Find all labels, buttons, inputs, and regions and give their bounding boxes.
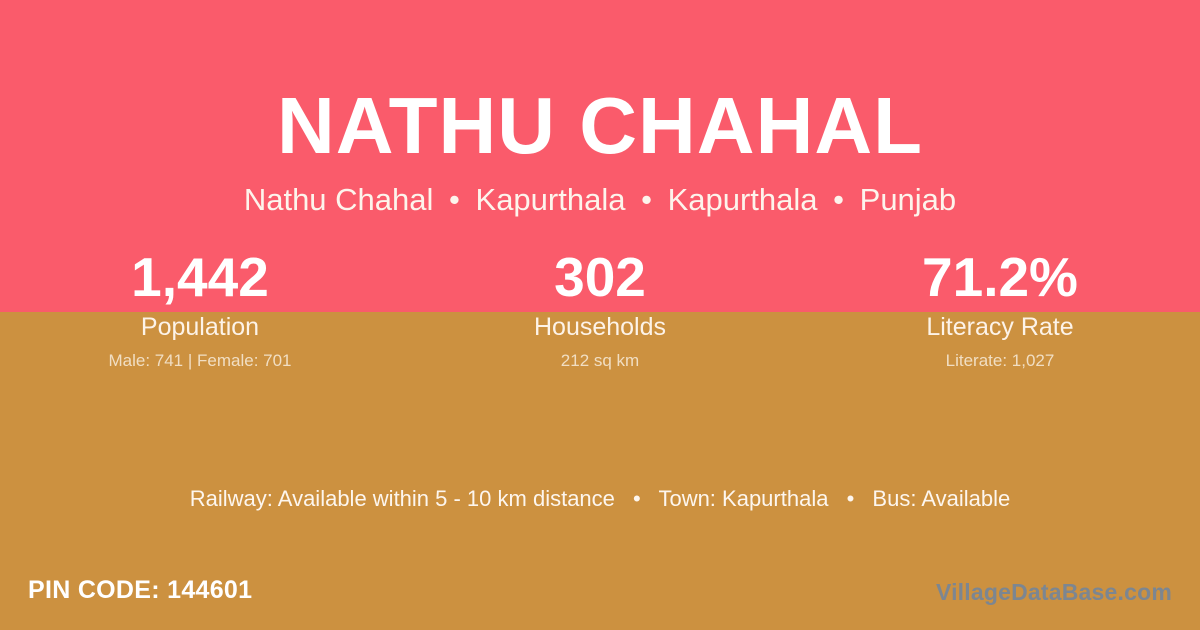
breadcrumb-separator-2: •: [634, 182, 659, 217]
breadcrumb: Nathu Chahal • Kapurthala • Kapurthala •…: [0, 181, 1200, 219]
village-info-card: NATHU CHAHAL Nathu Chahal • Kapurthala •…: [0, 0, 1200, 630]
stat-value: 302: [400, 246, 800, 308]
amenities-line: Railway: Available within 5 - 10 km dist…: [0, 484, 1200, 514]
amenity-separator-1: •: [621, 486, 653, 511]
stat-value: 1,442: [0, 246, 400, 308]
amenity-bus: Bus: Available: [872, 486, 1010, 511]
stat-literacy-rate: 71.2% Literacy Rate Literate: 1,027: [800, 246, 1200, 371]
stat-label: Literacy Rate: [800, 312, 1200, 342]
brand-watermark: VillageDataBase.com: [936, 578, 1172, 606]
amenity-separator-2: •: [835, 486, 867, 511]
breadcrumb-village: Nathu Chahal: [244, 182, 434, 217]
stat-sub: Male: 741 | Female: 701: [0, 350, 400, 371]
stat-label: Population: [0, 312, 400, 342]
breadcrumb-block: Kapurthala: [476, 182, 626, 217]
breadcrumb-district: Kapurthala: [668, 182, 818, 217]
stat-value: 71.2%: [800, 246, 1200, 308]
stat-sub: Literate: 1,027: [800, 350, 1200, 371]
amenity-railway: Railway: Available within 5 - 10 km dist…: [190, 486, 615, 511]
breadcrumb-separator-3: •: [826, 182, 851, 217]
amenity-town: Town: Kapurthala: [658, 486, 828, 511]
statistics-row: 1,442 Population Male: 741 | Female: 701…: [0, 246, 1200, 371]
stat-population: 1,442 Population Male: 741 | Female: 701: [0, 246, 400, 371]
stat-households: 302 Households 212 sq km: [400, 246, 800, 371]
breadcrumb-state: Punjab: [860, 182, 957, 217]
page-title: NATHU CHAHAL: [0, 83, 1200, 169]
stat-label: Households: [400, 312, 800, 342]
stat-sub: 212 sq km: [400, 350, 800, 371]
pin-code: PIN CODE: 144601: [28, 575, 252, 605]
breadcrumb-separator-1: •: [442, 182, 467, 217]
